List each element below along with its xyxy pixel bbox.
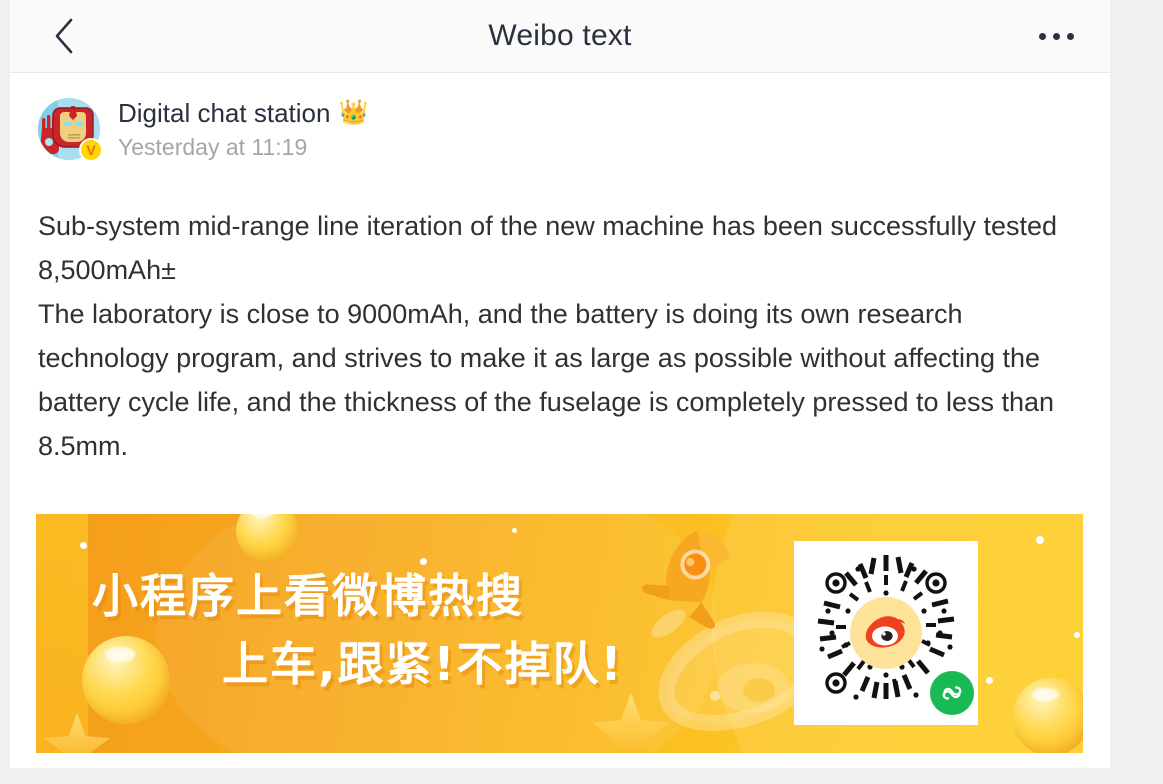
banner-line-1: 小程序上看微博热搜 — [92, 562, 712, 630]
verified-badge: V — [79, 138, 103, 162]
more-horizontal-icon-dot-1 — [1039, 33, 1046, 40]
post-paragraph-2: The laboratory is close to 9000mAh, and … — [38, 292, 1082, 468]
weibo-eye-logo — [850, 597, 922, 669]
banner-dot — [986, 677, 993, 684]
author-row: V Digital chat station 👑 Yesterday at 11… — [38, 98, 1110, 178]
post-text: Sub-system mid-range line iteration of t… — [38, 204, 1082, 468]
post-paragraph-1: Sub-system mid-range line iteration of t… — [38, 204, 1082, 292]
back-button[interactable] — [38, 10, 90, 62]
banner-sphere — [1012, 678, 1083, 753]
author-name[interactable]: Digital chat station — [118, 98, 330, 129]
wechat-miniprogram-qr-code — [802, 549, 970, 717]
author-meta: Digital chat station 👑 Yesterday at 11:1… — [118, 96, 368, 161]
page-title: Weibo text — [10, 0, 1110, 72]
author-name-line: Digital chat station 👑 — [118, 96, 368, 130]
qr-code-card[interactable] — [794, 541, 978, 725]
banner-dot — [1074, 632, 1080, 638]
more-horizontal-icon-dot-3 — [1067, 33, 1074, 40]
screen-root: Weibo text — [0, 0, 1163, 784]
wechat-miniprogram-badge-icon — [930, 671, 974, 715]
post-timestamp: Yesterday at 11:19 — [118, 134, 368, 161]
more-options-button[interactable] — [1028, 17, 1084, 55]
more-horizontal-icon-dot-2 — [1053, 33, 1060, 40]
banner-line-2: 上车,跟紧!不掉队! — [92, 630, 712, 698]
nav-header: Weibo text — [10, 0, 1110, 73]
chevron-left-icon — [53, 18, 75, 54]
post-body: V Digital chat station 👑 Yesterday at 11… — [10, 73, 1110, 753]
banner-left-strip — [36, 514, 88, 753]
crown-icon: 👑 — [338, 101, 368, 125]
banner-text: 小程序上看微博热搜 上车,跟紧!不掉队! — [92, 562, 712, 698]
banner-dot — [512, 528, 517, 533]
banner-dot — [1036, 536, 1044, 544]
promo-banner[interactable]: 小程序上看微博热搜 上车,跟紧!不掉队! — [36, 514, 1083, 753]
banner-dot — [80, 542, 87, 549]
avatar[interactable]: V — [38, 98, 100, 160]
